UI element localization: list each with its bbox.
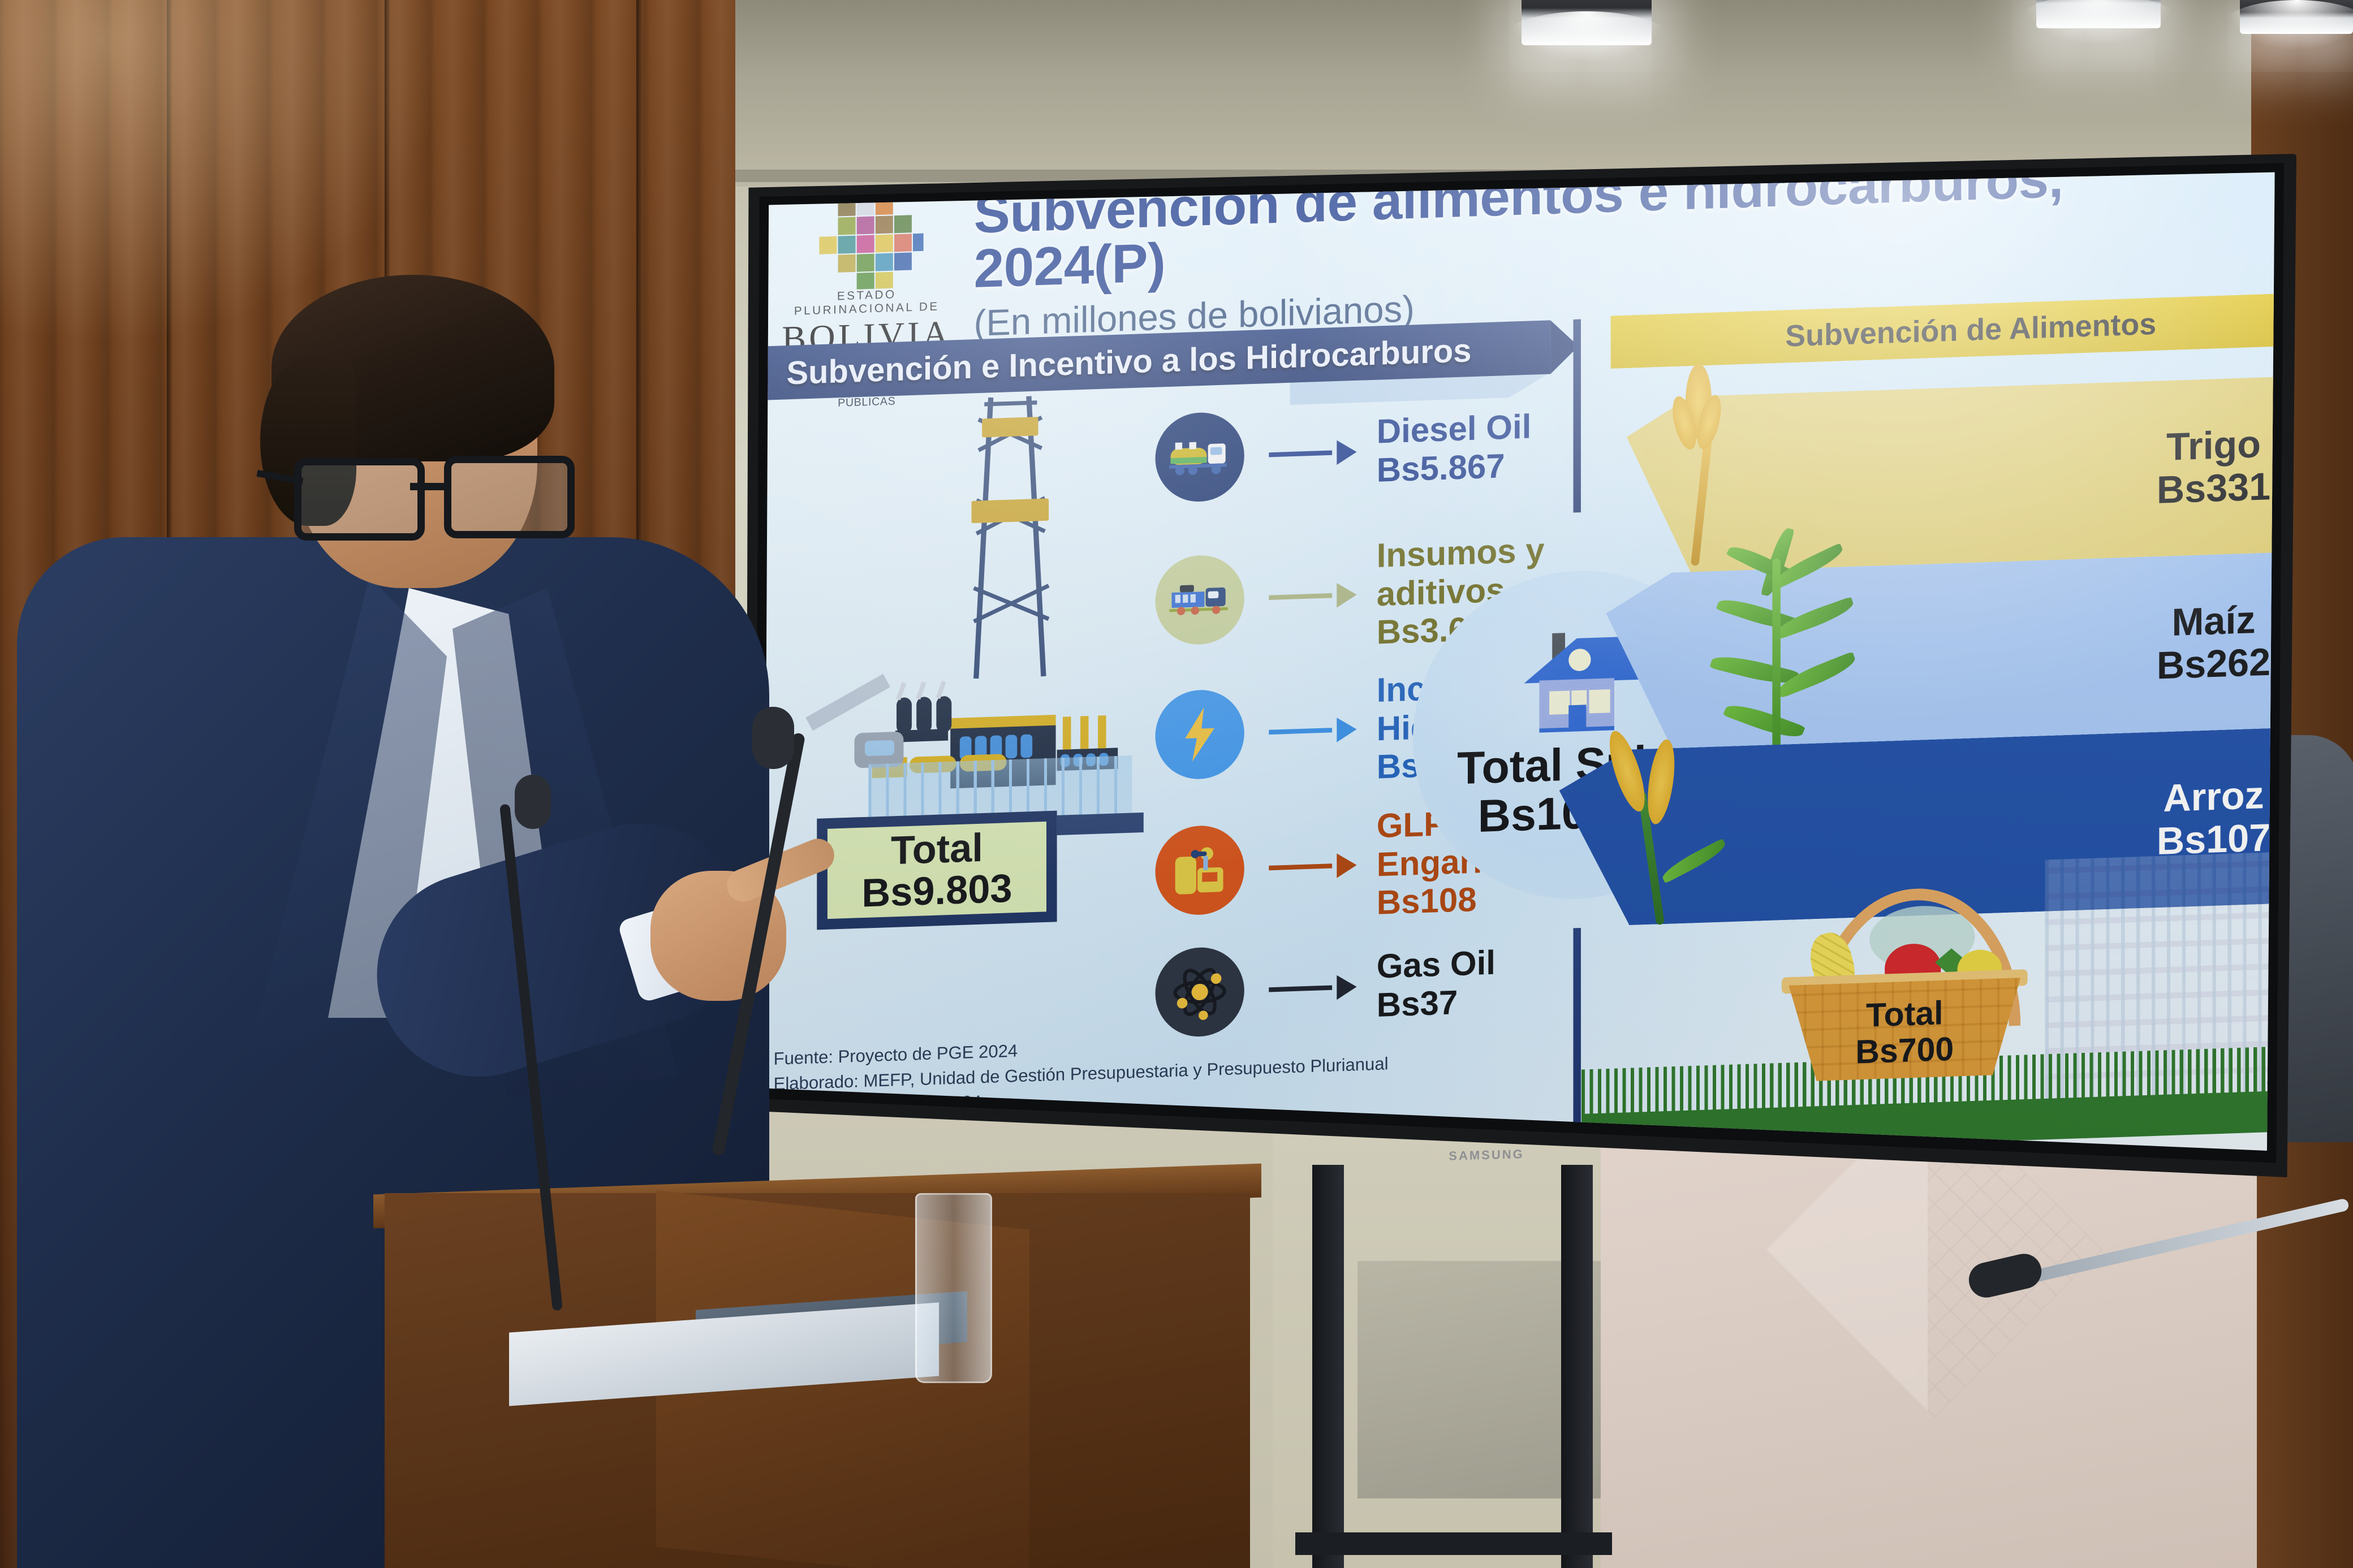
cargo-truck-icon: [1156, 554, 1244, 646]
slide: ESTADO PLURINACIONAL DE BOLIVIA MINISTER…: [745, 154, 2296, 1177]
tv-stand-leg-right: [1561, 1165, 1593, 1568]
rice-icon: [1577, 706, 1753, 940]
hydro-name-gas-oil: Gas Oil: [1377, 944, 1496, 986]
food-name-arroz: Arroz: [2157, 774, 2270, 820]
food-total-label-block: Total Bs700: [1782, 993, 2028, 1073]
food-value-trigo: Bs331: [2157, 465, 2270, 511]
derrick-tower-icon: [968, 395, 1050, 679]
food-basket-icon: Total Bs700: [1782, 889, 2028, 1073]
hydro-value-gas-oil: Bs37: [1377, 982, 1496, 1025]
hydro-value-diesel-oil: Bs5.867: [1377, 446, 1532, 490]
food-name-maiz: Maíz: [2157, 598, 2270, 645]
food-value-maiz: Bs262: [2157, 641, 2270, 687]
tv-stand-leg-left: [1312, 1165, 1344, 1568]
food-name-trigo: Trigo: [2157, 422, 2270, 469]
lightning-bolt-icon: [1156, 689, 1244, 781]
arrow-icon: [1269, 725, 1356, 737]
microphone-head-icon: [515, 775, 551, 829]
gas-cylinder-icon: [1156, 824, 1244, 917]
column-divider: [1573, 319, 1580, 513]
water-glass: [915, 1193, 992, 1383]
hydro-row-diesel-oil: Diesel Oil Bs5.867: [1156, 401, 1532, 503]
hydro-label-diesel-oil: Diesel Oil Bs5.867: [1377, 408, 1532, 490]
hydro-row-gas-oil: Gas Oil Bs37: [1156, 938, 1496, 1038]
ceiling-lamp-icon: [2240, 0, 2353, 34]
banner-tail: [1290, 374, 1548, 405]
hydro-label-gas-oil: Gas Oil Bs37: [1377, 944, 1496, 1025]
arrow-icon: [1269, 982, 1356, 995]
hydro-name-insumos-1: Insumos y: [1377, 531, 1545, 575]
fuel-tanker-truck-icon: [1156, 411, 1244, 503]
presentation-display[interactable]: ESTADO PLURINACIONAL DE BOLIVIA MINISTER…: [745, 154, 2296, 1177]
section-header-food-label: Subvención de Alimentos: [1785, 306, 2156, 354]
tv-brand-logo: SAMSUNG: [1427, 1146, 1546, 1164]
atom-icon: [1156, 946, 1244, 1038]
hydro-name-diesel-oil: Diesel Oil: [1377, 408, 1532, 451]
tv-screen[interactable]: ESTADO PLURINACIONAL DE BOLIVIA MINISTER…: [745, 154, 2296, 1177]
eyeglasses-icon: [294, 458, 560, 532]
arrow-icon: [1269, 447, 1356, 460]
press-conference-room: ¡Estamos reconstruyendo la economía!: [0, 0, 2353, 1568]
arrow-icon: [1269, 590, 1356, 603]
ceiling-lamp-icon: [1522, 0, 1652, 45]
hydrocarbons-total-label: Total: [891, 827, 983, 871]
microphone-head-icon: [752, 707, 794, 769]
oil-rig-illustration: [845, 392, 1149, 835]
tv-stand-base: [1295, 1532, 1612, 1555]
ceiling-lamp-icon: [2036, 0, 2161, 28]
hydrocarbons-total-value: Bs9.803: [861, 868, 1012, 915]
arrow-icon: [1269, 861, 1356, 873]
